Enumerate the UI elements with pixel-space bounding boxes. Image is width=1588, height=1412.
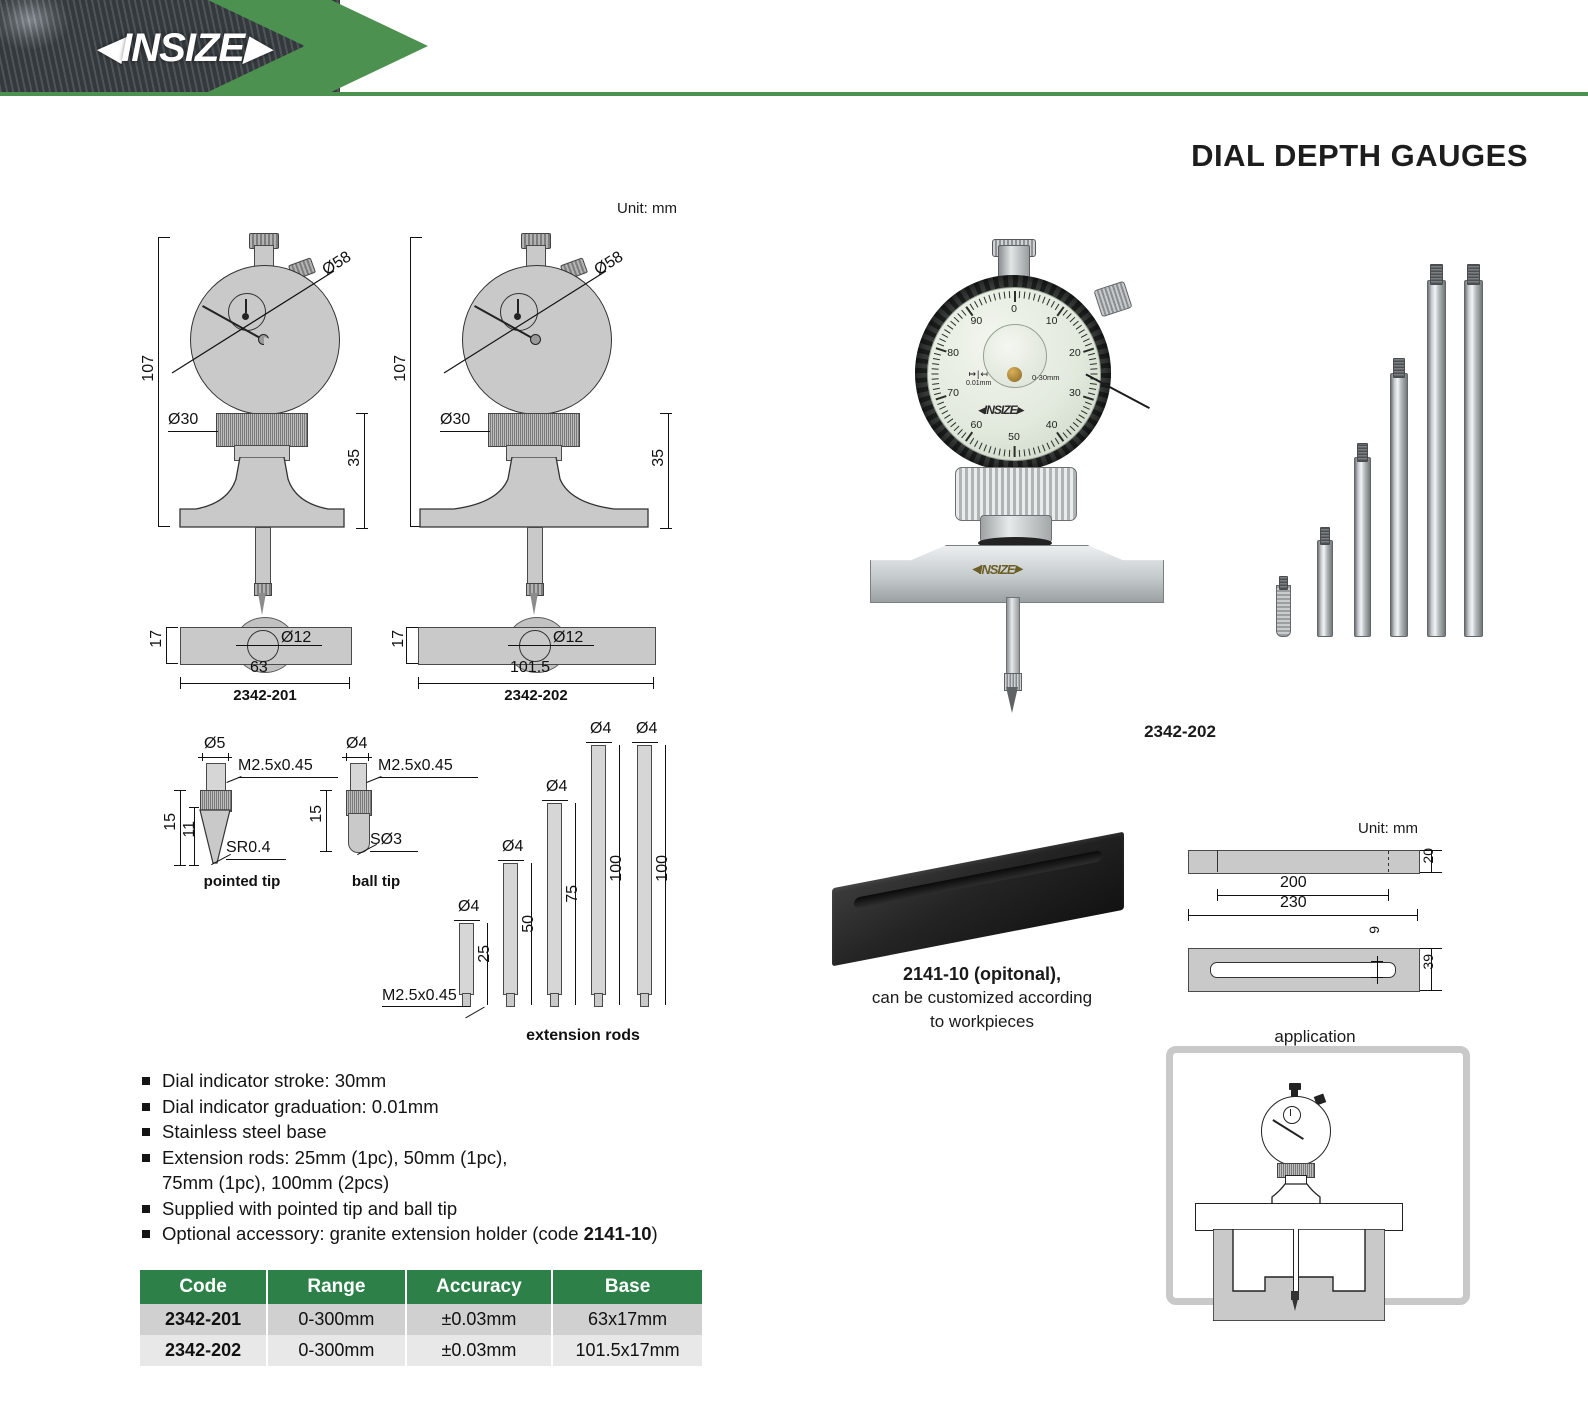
dial-tick bbox=[944, 329, 950, 334]
specifications-table: Code Range Accuracy Base 2342-201 0-300m… bbox=[140, 1270, 702, 1366]
label-rods-thread: M2.5x0.45 bbox=[382, 987, 457, 1005]
photo-dial-range: 0-30mm bbox=[1032, 373, 1060, 382]
dim-base-height-201: 35 bbox=[346, 449, 364, 467]
spec-bullet-rods-cont: 75mm (1pc), 100mm (2pcs) bbox=[140, 1170, 780, 1196]
dim-rod5-dia: Ø4 bbox=[636, 720, 657, 738]
caption-pointed-tip: pointed tip bbox=[182, 873, 302, 890]
dial-number: 50 bbox=[1007, 431, 1021, 443]
dial-tick bbox=[1076, 325, 1082, 330]
product-photo-granite-holder bbox=[832, 840, 1132, 965]
photo-rod-50-thread bbox=[1357, 443, 1368, 462]
dial-tick bbox=[1083, 338, 1090, 342]
table-row: 2342-202 0-300mm ±0.03mm 101.5x17mm bbox=[140, 1335, 702, 1366]
dial-tick bbox=[954, 317, 960, 323]
page-header: ◀INSIZE▶ bbox=[0, 0, 1588, 96]
dial-tick bbox=[1009, 291, 1010, 298]
dim-base-hole-202: Ø12 bbox=[553, 629, 583, 647]
dial-number: 70 bbox=[946, 387, 960, 399]
dial-number: 60 bbox=[969, 419, 983, 431]
dial-tick bbox=[988, 446, 991, 453]
dim-height-202: 107 bbox=[392, 355, 410, 382]
dial-tick bbox=[1004, 292, 1006, 299]
dim-rod2-length: 50 bbox=[520, 915, 538, 933]
dial-tick bbox=[954, 426, 960, 432]
header-green-rule bbox=[0, 92, 1588, 96]
dial-tick bbox=[932, 378, 939, 379]
dial-tick bbox=[950, 422, 956, 427]
dial-tick bbox=[1063, 310, 1068, 316]
dial-tick bbox=[988, 295, 991, 302]
dial-tick bbox=[1042, 444, 1046, 451]
drawing-gauge-2342-202: 107 Ø58 Ø30 35 Ø12 17 101.5 2342-202 bbox=[402, 225, 692, 700]
dial-tick bbox=[1090, 368, 1097, 369]
dial-tick bbox=[937, 343, 944, 347]
dial-tick bbox=[932, 383, 939, 385]
dial-tick bbox=[942, 334, 949, 338]
dial-tick bbox=[1078, 329, 1084, 334]
granite-caption: 2141-10 (opitonal), can be customized ac… bbox=[832, 962, 1132, 1034]
dim-rod2-dia: Ø4 bbox=[502, 838, 523, 856]
dial-tick bbox=[1091, 374, 1098, 375]
dial-number: 10 bbox=[1045, 315, 1059, 327]
insize-logo: ◀INSIZE▶ bbox=[96, 28, 269, 68]
dial-tick bbox=[942, 410, 949, 414]
dim-granite-width: 39 bbox=[1420, 954, 1436, 970]
dim-base-length-202: 101.5 bbox=[510, 659, 550, 677]
photo-dial-face: 0102030405060708090 ↦|↤ 0.01mm 0-30mm ◀I… bbox=[927, 287, 1101, 461]
label-pointed-tip-radius: SR0.4 bbox=[226, 839, 270, 857]
app-subdial bbox=[1283, 1106, 1301, 1124]
dial-tick bbox=[961, 310, 966, 316]
dial-tick bbox=[933, 388, 940, 390]
dial-tick bbox=[1073, 321, 1079, 326]
cell-range: 0-300mm bbox=[267, 1335, 406, 1366]
photo-rod-100-a-thread bbox=[1430, 264, 1443, 285]
dial-tick bbox=[1019, 450, 1020, 457]
dial-tick bbox=[998, 292, 1000, 299]
dim-pointed-tip-length: 15 bbox=[162, 813, 180, 831]
dim-rod1-dia: Ø4 bbox=[458, 898, 479, 916]
photo-rod-tip-thread bbox=[1279, 576, 1288, 590]
dial-tick bbox=[1024, 292, 1026, 299]
logo-text: INSIZE bbox=[121, 28, 244, 68]
dial-tick bbox=[974, 301, 978, 308]
spec-optional-code: 2141-10 bbox=[584, 1223, 652, 1244]
dial-tick bbox=[970, 304, 975, 310]
dim-granite-inner-length: 200 bbox=[1280, 874, 1307, 892]
spec-bullet-tips: Supplied with pointed tip and ball tip bbox=[140, 1196, 780, 1222]
base-logo-text: INSIZE bbox=[979, 563, 1015, 576]
dial-number: 80 bbox=[946, 347, 960, 359]
dial-tick bbox=[939, 338, 946, 342]
dial-tick bbox=[1051, 301, 1055, 308]
drawing-gauge-2342-201: 107 Ø58 Ø30 35 Ø12 17 bbox=[150, 225, 400, 700]
dial-tick bbox=[947, 325, 953, 330]
dial-tick bbox=[957, 429, 963, 435]
dim-base-hole-201: Ø12 bbox=[281, 629, 311, 647]
product-photo-dial-depth-gauge: 0102030405060708090 ↦|↤ 0.01mm 0-30mm ◀I… bbox=[860, 245, 1190, 725]
spec-bullet-base: Stainless steel base bbox=[140, 1119, 780, 1145]
dim-base-thickness-202: 17 bbox=[390, 630, 408, 648]
dial-tick bbox=[974, 440, 978, 447]
spec-optional-suffix: ) bbox=[652, 1223, 658, 1244]
dim-collar-dia-202: Ø30 bbox=[440, 411, 470, 429]
cell-range: 0-300mm bbox=[267, 1304, 406, 1335]
dial-tick bbox=[1019, 291, 1020, 298]
photo-rod-25-thread bbox=[1320, 527, 1330, 545]
dim-rod5-length: 100 bbox=[654, 855, 672, 882]
photo-rod-100-b bbox=[1464, 280, 1483, 637]
dial-tick bbox=[934, 392, 941, 395]
dim-granite-thickness: 20 bbox=[1420, 848, 1436, 864]
product-photo-extension-rods bbox=[1272, 245, 1492, 665]
dim-collar-dia-201: Ø30 bbox=[168, 411, 198, 429]
dial-tick bbox=[979, 443, 983, 450]
dial-tick bbox=[1028, 449, 1030, 456]
spec-optional-prefix: Optional accessory: granite extension ho… bbox=[162, 1223, 584, 1244]
dim-base-length-201: 63 bbox=[250, 659, 268, 677]
cell-base: 101.5x17mm bbox=[552, 1335, 702, 1366]
dim-pointed-tip-cone: 11 bbox=[181, 821, 199, 838]
dim-rod4-dia: Ø4 bbox=[590, 720, 611, 738]
dial-tick bbox=[944, 414, 950, 419]
granite-caption-line1: 2141-10 (opitonal), bbox=[832, 962, 1132, 986]
photo-base-logo: ◀INSIZE▶ bbox=[972, 563, 1021, 576]
photo-dial-logo: ◀INSIZE▶ bbox=[978, 404, 1023, 416]
cell-code: 2342-202 bbox=[140, 1335, 267, 1366]
dial-tick bbox=[1076, 418, 1082, 423]
dial-tick bbox=[1028, 292, 1030, 299]
table-header-row: Code Range Accuracy Base bbox=[140, 1270, 702, 1304]
th-range: Range bbox=[267, 1270, 406, 1304]
cell-accuracy: ±0.03mm bbox=[406, 1304, 552, 1335]
dial-number: 20 bbox=[1068, 347, 1082, 359]
dial-tick bbox=[993, 447, 996, 454]
dial-tick bbox=[1033, 293, 1036, 300]
dial-tick bbox=[1090, 383, 1097, 385]
dial-tick bbox=[1014, 446, 1016, 457]
dim-rod4-length: 100 bbox=[608, 855, 626, 882]
photo-caption-2342-202: 2342-202 bbox=[1060, 722, 1300, 742]
th-code: Code bbox=[140, 1270, 267, 1304]
drawing-extension-rods: Ø4 25 M2.5x0.45 Ø4 50 Ø4 75 Ø4 100 Ø4 10… bbox=[440, 715, 690, 1035]
application-label: application bbox=[1190, 1027, 1440, 1047]
spec-bullet-stroke: Dial indicator stroke: 30mm bbox=[140, 1068, 780, 1094]
photo-rod-75 bbox=[1390, 373, 1408, 637]
spec-bullet-optional: Optional accessory: granite extension ho… bbox=[140, 1221, 780, 1247]
dial-tick bbox=[1089, 358, 1096, 360]
dial-tick bbox=[1051, 440, 1055, 447]
dial-tick bbox=[1055, 304, 1060, 310]
cell-accuracy: ±0.03mm bbox=[406, 1335, 552, 1366]
app-measuring-rod bbox=[1293, 1229, 1299, 1293]
dial-tick bbox=[937, 402, 944, 406]
dial-tick bbox=[970, 438, 975, 444]
dial-logo-right-arrow-icon: ▶ bbox=[1017, 406, 1023, 415]
th-base: Base bbox=[552, 1270, 702, 1304]
app-workpiece-plate bbox=[1195, 1203, 1403, 1231]
photo-dial-graduation-block: ↦|↤ 0.01mm bbox=[966, 370, 991, 388]
dial-tick bbox=[1073, 422, 1079, 427]
dial-tick bbox=[1085, 343, 1092, 347]
label-pointed-tip-thread: M2.5x0.45 bbox=[238, 757, 313, 775]
cell-code: 2342-201 bbox=[140, 1304, 267, 1335]
granite-caption-line3: to workpieces bbox=[832, 1010, 1132, 1034]
caption-ball-tip: ball tip bbox=[316, 873, 436, 890]
base-logo-left-arrow-icon: ◀ bbox=[972, 565, 979, 575]
dial-tick bbox=[1089, 388, 1096, 390]
dial-tick bbox=[932, 374, 939, 375]
dial-tick bbox=[1038, 295, 1041, 302]
granite-code: 2141-10 bbox=[903, 964, 969, 984]
dial-tick bbox=[936, 348, 947, 353]
dial-tick bbox=[1014, 291, 1016, 302]
photo-rod-100-b-thread bbox=[1467, 264, 1480, 285]
spec-bullet-graduation: Dial indicator graduation: 0.01mm bbox=[140, 1094, 780, 1120]
photo-dial-bezel: 0102030405060708090 ↦|↤ 0.01mm 0-30mm ◀I… bbox=[915, 275, 1111, 471]
dial-tick bbox=[1004, 449, 1006, 456]
dial-tick bbox=[1046, 443, 1050, 450]
dial-tick bbox=[993, 293, 996, 300]
photo-knurled-collar bbox=[955, 467, 1077, 521]
drawing-granite-holder: Unit: mm 20 200 230 9 39 bbox=[1180, 820, 1510, 1030]
caption-2342-202: 2342-202 bbox=[466, 687, 606, 704]
dial-tick bbox=[979, 299, 983, 306]
th-accuracy: Accuracy bbox=[406, 1270, 552, 1304]
dial-tick bbox=[983, 444, 987, 451]
dim-rod1-length: 25 bbox=[476, 945, 494, 963]
caption-extension-rods: extension rods bbox=[468, 1027, 698, 1045]
cell-base: 63x17mm bbox=[552, 1304, 702, 1335]
photo-pointed-tip bbox=[1006, 687, 1018, 713]
dial-tick bbox=[1066, 429, 1072, 435]
dial-tick bbox=[1081, 410, 1088, 414]
photo-rod-50 bbox=[1354, 457, 1371, 637]
unit-label-right: Unit: mm bbox=[1358, 820, 1418, 837]
photo-dial-center-hub bbox=[1007, 367, 1022, 382]
app-rod-tip bbox=[1292, 1299, 1298, 1311]
dial-tick bbox=[1083, 348, 1094, 353]
dim-base-height-202: 35 bbox=[650, 449, 668, 467]
dial-number: 30 bbox=[1068, 387, 1082, 399]
dial-tick bbox=[1033, 447, 1036, 454]
dial-tick bbox=[932, 363, 939, 365]
dim-height-201: 107 bbox=[140, 355, 158, 382]
granite-optional: (opitonal), bbox=[974, 964, 1061, 984]
dim-granite-outer-length: 230 bbox=[1280, 894, 1307, 912]
specifications-list: Dial indicator stroke: 30mm Dial indicat… bbox=[140, 1068, 780, 1247]
dial-tick bbox=[947, 418, 953, 423]
dial-tick bbox=[961, 432, 966, 438]
dial-number: 40 bbox=[1045, 419, 1059, 431]
photo-rod-25 bbox=[1317, 540, 1333, 637]
dim-granite-slot-width: 9 bbox=[1366, 926, 1382, 934]
dial-tick bbox=[933, 358, 940, 360]
dim-rod3-dia: Ø4 bbox=[546, 778, 567, 796]
spec-bullet-rods: Extension rods: 25mm (1pc), 50mm (1pc), bbox=[140, 1145, 780, 1171]
base-logo-right-arrow-icon: ▶ bbox=[1015, 565, 1022, 575]
dial-tick bbox=[1024, 449, 1026, 456]
photo-rod-tip bbox=[1276, 585, 1291, 637]
dial-tick bbox=[939, 406, 946, 410]
dial-tick bbox=[936, 395, 947, 400]
granite-caption-line2: can be customized according bbox=[832, 986, 1132, 1010]
dim-ball-tip-dia: Ø4 bbox=[346, 735, 367, 753]
dial-tick bbox=[1042, 297, 1046, 304]
dial-tick bbox=[934, 353, 941, 356]
table-row: 2342-201 0-300mm ±0.03mm 63x17mm bbox=[140, 1304, 702, 1335]
application-illustration bbox=[1166, 1046, 1470, 1305]
dial-logo-text: INSIZE bbox=[984, 404, 1017, 416]
dim-pointed-tip-dia: Ø5 bbox=[204, 735, 225, 753]
label-ball-tip-sphere: SØ3 bbox=[370, 831, 402, 849]
dial-tick bbox=[1083, 395, 1094, 400]
logo-right-arrow-icon: ▶ bbox=[244, 31, 269, 65]
dial-number: 90 bbox=[969, 315, 983, 327]
dial-tick bbox=[1055, 438, 1060, 444]
dial-tick bbox=[1063, 432, 1068, 438]
dial-tick bbox=[1090, 363, 1097, 365]
dial-tick bbox=[1046, 299, 1050, 306]
photo-side-screw bbox=[1093, 281, 1132, 318]
dim-ball-tip-length: 15 bbox=[308, 805, 326, 823]
dial-tick bbox=[932, 368, 939, 369]
dial-tick bbox=[1009, 450, 1010, 457]
dial-tick bbox=[1078, 414, 1084, 419]
caption-2342-201: 2342-201 bbox=[195, 687, 335, 704]
dial-tick bbox=[1088, 392, 1095, 395]
photo-rod-100-a bbox=[1427, 280, 1446, 637]
dial-tick bbox=[998, 449, 1000, 456]
unit-label-left: Unit: mm bbox=[617, 200, 677, 217]
dial-tick bbox=[957, 313, 963, 319]
dial-tick bbox=[1038, 446, 1041, 453]
dial-tick bbox=[1066, 313, 1072, 319]
dim-rod3-length: 75 bbox=[564, 885, 582, 903]
page-title: DIAL DEPTH GAUGES bbox=[1191, 138, 1528, 174]
photo-dial-graduation: 0.01mm bbox=[966, 380, 991, 387]
dial-number: 0 bbox=[1007, 303, 1021, 315]
dim-base-thickness-201: 17 bbox=[148, 630, 166, 648]
dial-tick bbox=[1081, 334, 1088, 338]
dial-tick bbox=[1070, 426, 1076, 432]
dial-tick bbox=[1070, 317, 1076, 323]
dial-tick bbox=[1085, 402, 1092, 406]
dial-tick bbox=[950, 321, 956, 326]
dial-tick bbox=[1083, 406, 1090, 410]
photo-rod-75-thread bbox=[1393, 358, 1405, 378]
photo-dial-needle bbox=[1085, 373, 1150, 409]
logo-left-arrow-icon: ◀ bbox=[96, 31, 121, 65]
dial-tick bbox=[983, 297, 987, 304]
dial-tick bbox=[1088, 353, 1095, 356]
